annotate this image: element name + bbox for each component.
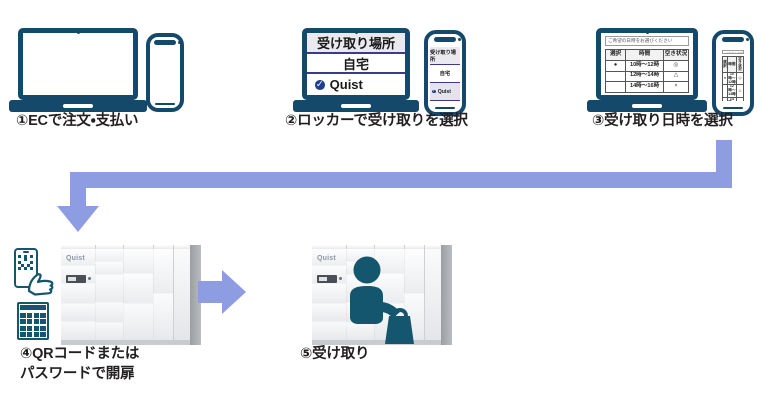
step-2-caption: ②ロッカーで受け取りを選択 <box>285 112 545 132</box>
panel-option-home[interactable]: 自宅 <box>307 54 405 75</box>
step-1-caption: ①ECで注文・支払い <box>16 112 246 132</box>
cell-status: ◎ <box>663 60 688 71</box>
laptop-trackpad <box>63 104 93 108</box>
receive-location-panel: 受け取り場所 自宅 ✓ Quist <box>307 33 405 95</box>
cell-time: 10時〜12時 <box>626 60 664 71</box>
smartphone-device-1 <box>146 33 184 112</box>
laptop-base <box>9 100 147 112</box>
pointing-hand-icon <box>27 270 57 296</box>
locker-door[interactable] <box>95 274 123 303</box>
laptop-base <box>293 100 419 112</box>
table-row[interactable]: ● 10時〜12時 ◎ <box>606 60 689 71</box>
panel-header: 受け取り場所 <box>430 47 460 65</box>
phone-speaker-icon <box>154 40 176 45</box>
locker-door[interactable] <box>95 322 123 341</box>
panel-option-locker[interactable]: ✓ Quist <box>307 74 405 95</box>
step-3-group: ご希望の日時をお選びください 選択 時間 空き状況 ● 10時〜12時 ◎ <box>596 28 698 112</box>
elbow-arrowhead-icon <box>57 206 99 232</box>
elbow-arrow-connector <box>0 140 763 230</box>
step-5-group: Quist <box>300 242 450 352</box>
panel-option-locker-label: Quist <box>330 77 363 92</box>
locker-bank-4: Quist <box>61 245 201 345</box>
cell-time: 12時〜14時 <box>626 71 664 82</box>
qr-phone-speaker-icon <box>23 251 29 253</box>
elbow-vertical-stub <box>716 140 732 174</box>
locker-side-panel <box>441 245 452 345</box>
locker-door[interactable] <box>123 249 153 274</box>
table-row[interactable]: 12時〜14時 △ <box>606 71 689 82</box>
step-3-caption: ③受け取り日時を選択 <box>592 112 763 132</box>
locker-door[interactable] <box>61 283 95 304</box>
phone-screen-3: ご希望の日時をお選びください 選択 時間 空き状況 ● 10時〜12時 ◎ <box>718 47 748 101</box>
locker-door[interactable] <box>61 303 95 322</box>
arrow-tail <box>198 281 224 303</box>
locker-door[interactable] <box>95 302 123 323</box>
table-header-row: 選択 時間 空き状況 <box>606 50 689 61</box>
step-2-group: 受け取り場所 自宅 ✓ Quist 受け取り場所 自宅 ✓ <box>302 28 410 112</box>
locker-control-panel[interactable] <box>66 275 86 283</box>
elbow-down-bar <box>70 172 86 210</box>
laptop-device-2: 受け取り場所 自宅 ✓ Quist <box>302 28 410 112</box>
cell-select[interactable]: ● <box>606 60 626 71</box>
cell-select[interactable] <box>606 71 626 82</box>
col-select: 選択 <box>606 50 626 61</box>
locker-brand-logo: Quist <box>317 255 336 262</box>
laptop-device-3: ご希望の日時をお選びください 選択 時間 空き状況 ● 10時〜12時 ◎ <box>596 28 698 112</box>
keypad-keys <box>20 313 46 337</box>
laptop-camera-icon <box>646 31 649 34</box>
schedule-title: ご希望の日時をお選びください <box>605 36 689 46</box>
qr-code-icon <box>18 255 33 270</box>
table-row[interactable]: 14時〜16時 × <box>723 97 744 101</box>
locker-brand-logo: Quist <box>66 255 85 262</box>
table-row[interactable]: 14時〜16時 × <box>606 82 689 93</box>
schedule-table-panel-mobile: ご希望の日時をお選びください 選択 時間 空き状況 ● 10時〜12時 ◎ <box>718 47 748 101</box>
locker-door[interactable] <box>61 321 95 341</box>
laptop-screen-3: ご希望の日時をお選びください 選択 時間 空き状況 ● 10時〜12時 ◎ <box>601 33 693 95</box>
receive-location-panel-mobile: 受け取り場所 自宅 ✓ Quist <box>430 47 460 101</box>
cell-status: ◎ <box>736 73 743 85</box>
phone-speaker-icon <box>722 37 744 42</box>
panel-option-locker-label: Quist <box>438 89 451 95</box>
laptop-device-1 <box>18 28 138 112</box>
locker-control-panel[interactable] <box>317 275 337 283</box>
col-status: 空き状況 <box>663 50 688 61</box>
col-status: 空き状況 <box>736 57 743 73</box>
step-5-caption: ⑤受け取り <box>300 345 480 365</box>
locker-door[interactable] <box>153 293 173 341</box>
laptop-screen-1 <box>23 33 133 95</box>
col-time: 時間 <box>727 57 736 73</box>
phone-home-indicator <box>435 107 455 109</box>
schedule-table: 選択 時間 空き状況 ● 10時〜12時 ◎ 12時〜14時 △ <box>722 56 744 101</box>
laptop-camera-icon <box>355 31 358 34</box>
panel-option-home[interactable]: 自宅 <box>430 65 460 83</box>
locker-door[interactable] <box>123 303 153 341</box>
laptop-trackpad <box>632 104 662 108</box>
cell-status: △ <box>663 71 688 82</box>
phone-camera-icon <box>458 38 461 41</box>
phone-home-indicator <box>723 107 743 109</box>
keypad-password-icon <box>17 302 49 340</box>
flow-diagram: ①ECで注文・支払い 受け取り場所 自宅 ✓ Quist <box>0 0 763 400</box>
laptop-screen-2: 受け取り場所 自宅 ✓ Quist <box>307 33 405 95</box>
cell-time: 10時〜12時 <box>727 73 736 85</box>
cell-status: △ <box>736 85 743 97</box>
schedule-title: ご希望の日時をお選びください <box>722 50 744 54</box>
check-icon: ✓ <box>432 90 436 94</box>
panel-header: 受け取り場所 <box>307 33 405 54</box>
elbow-horizontal-bar <box>70 172 732 188</box>
phone-screen-2: 受け取り場所 自宅 ✓ Quist <box>430 47 460 101</box>
locker-front: Quist <box>61 245 190 345</box>
cell-time: 14時〜16時 <box>727 97 736 101</box>
cell-status: × <box>663 82 688 93</box>
smartphone-device-3: ご希望の日時をお選びください 選択 時間 空き状況 ● 10時〜12時 ◎ <box>712 30 754 116</box>
phone-camera-icon <box>746 38 749 41</box>
locker-door[interactable] <box>123 273 153 304</box>
qr-code-phone-icon <box>14 248 60 296</box>
cell-time: 14時〜16時 <box>626 82 664 93</box>
smartphone-device-2: 受け取り場所 自宅 ✓ Quist <box>424 30 466 116</box>
phone-camera-icon <box>178 41 181 44</box>
table-header-row: 選択 時間 空き状況 <box>723 57 744 73</box>
panel-option-locker[interactable]: ✓ Quist <box>430 83 460 101</box>
arrow-head-icon <box>222 270 246 314</box>
schedule-table: 選択 時間 空き状況 ● 10時〜12時 ◎ 12時〜14時 △ <box>605 49 689 93</box>
schedule-table-panel: ご希望の日時をお選びください 選択 時間 空き状況 ● 10時〜12時 ◎ <box>601 33 693 95</box>
table-row[interactable]: ● 10時〜12時 ◎ <box>723 73 744 85</box>
cell-select[interactable] <box>606 82 626 93</box>
right-arrow-connector <box>198 270 252 314</box>
cell-status: × <box>736 97 743 101</box>
laptop-trackpad <box>341 104 371 108</box>
check-icon: ✓ <box>315 80 325 90</box>
locker-door[interactable] <box>153 249 173 294</box>
cell-time: 12時〜14時 <box>727 85 736 97</box>
phone-speaker-icon <box>434 37 456 42</box>
col-time: 時間 <box>626 50 664 61</box>
laptop-camera-icon <box>77 31 80 34</box>
step-1-group <box>18 28 138 112</box>
phone-screen-1 <box>152 50 178 97</box>
laptop-base <box>587 100 707 112</box>
keypad-display <box>20 305 46 310</box>
phone-home-indicator <box>155 103 175 105</box>
person-pictogram-icon <box>340 256 420 348</box>
step-4-caption: ④QRコードまたは パスワードで開扉 <box>20 345 240 384</box>
locker-door[interactable] <box>95 261 123 275</box>
table-row[interactable]: 12時〜14時 △ <box>723 85 744 97</box>
